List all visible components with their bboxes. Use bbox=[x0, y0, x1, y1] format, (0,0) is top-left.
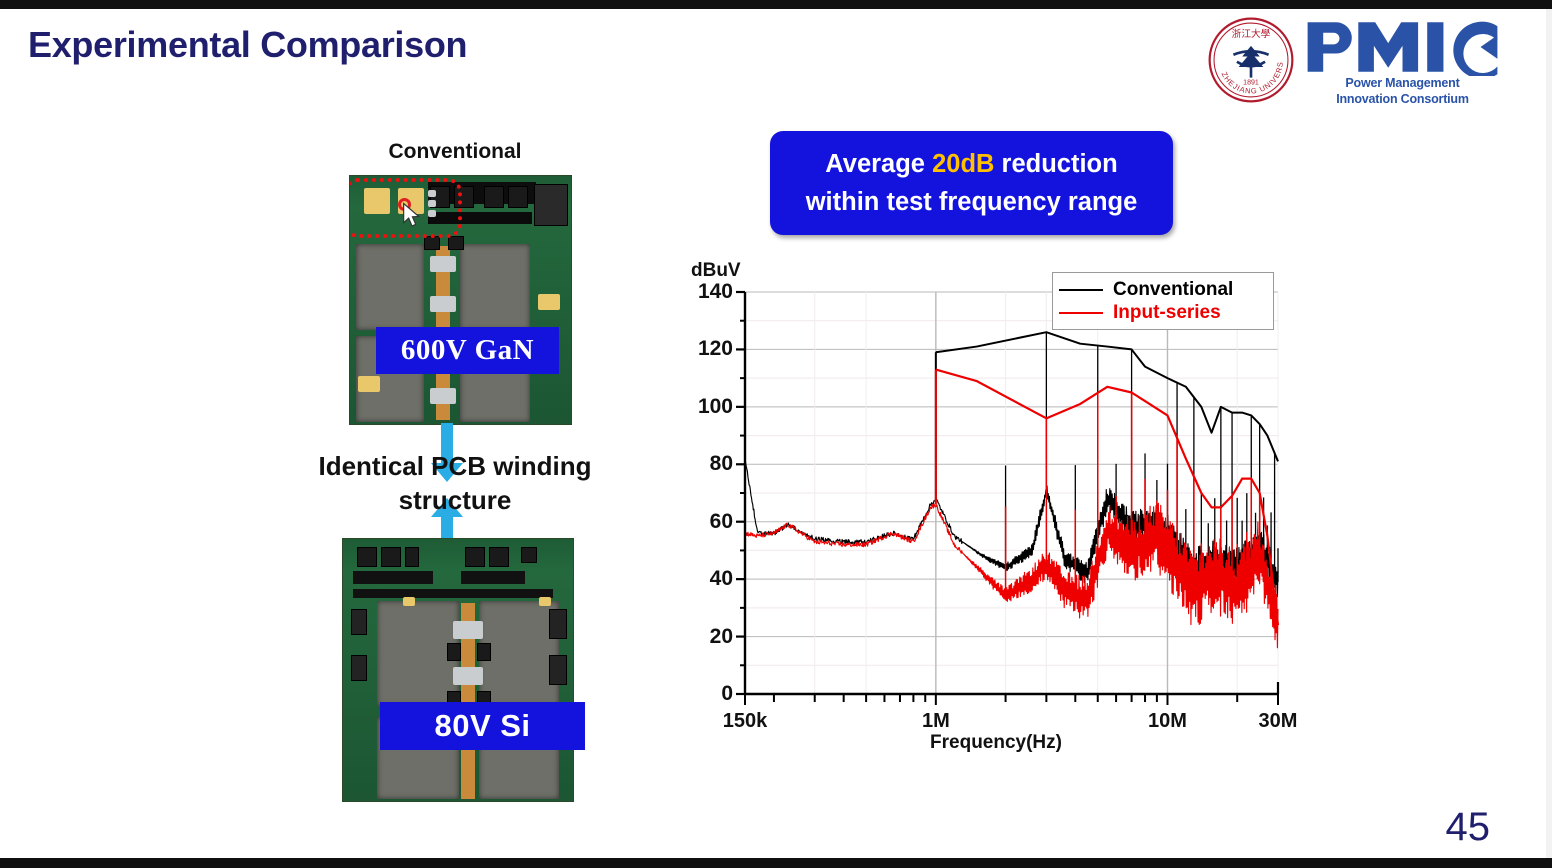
y-tick-20: 20 bbox=[710, 625, 733, 649]
callout-highlight-20db: 20dB bbox=[932, 150, 994, 178]
tag-80v-si: 80V Si bbox=[380, 702, 585, 750]
x-tick-30M: 30M bbox=[1259, 710, 1298, 733]
pmic-logo: Power Management Innovation Consortium bbox=[1305, 16, 1500, 107]
legend-item-conventional: Conventional bbox=[1059, 279, 1267, 301]
x-tick-10M: 10M bbox=[1148, 710, 1187, 733]
svg-text:浙江大學: 浙江大學 bbox=[1232, 27, 1271, 40]
top-black-bar bbox=[0, 0, 1552, 9]
identical-winding-text: Identical PCB winding structure bbox=[275, 450, 635, 518]
x-tick-1M: 1M bbox=[922, 710, 950, 733]
legend-label-conventional: Conventional bbox=[1113, 279, 1233, 301]
y-tick-80: 80 bbox=[710, 452, 733, 476]
logo-group: 浙江大學 1891 ZHEJIANG UNIVERSITY Power bbox=[1207, 16, 1500, 120]
pmic-wordmark-icon bbox=[1305, 18, 1500, 76]
zhejiang-university-seal-icon: 浙江大學 1891 ZHEJIANG UNIVERSITY bbox=[1207, 16, 1295, 104]
mouse-cursor-icon bbox=[402, 202, 422, 230]
chart-legend: Conventional Input-series bbox=[1052, 272, 1274, 330]
svg-text:1891: 1891 bbox=[1243, 80, 1259, 87]
callout-line1-prefix: Average bbox=[825, 150, 932, 178]
left-photo-column: Conventional bbox=[280, 140, 630, 830]
pmic-subtitle-line1: Power Management bbox=[1336, 76, 1469, 92]
legend-label-input-series: Input-series bbox=[1113, 302, 1221, 324]
y-tick-40: 40 bbox=[710, 567, 733, 591]
x-axis-title: Frequency(Hz) bbox=[686, 732, 1306, 754]
legend-swatch-input-series bbox=[1059, 312, 1103, 314]
y-tick-120: 120 bbox=[698, 337, 733, 361]
page-number: 45 bbox=[1446, 805, 1491, 850]
tag-600v-gan: 600V GaN bbox=[376, 327, 559, 374]
legend-swatch-conventional bbox=[1059, 289, 1103, 291]
y-tick-140: 140 bbox=[698, 280, 733, 304]
y-tick-60: 60 bbox=[710, 510, 733, 534]
callout-line1: Average 20dB reduction bbox=[825, 145, 1117, 183]
pcb-photo-bottom-80v-si bbox=[342, 538, 574, 802]
emi-spectrum-chart: dBuV 020406080100120140 150k1M10M30M Fre… bbox=[686, 262, 1306, 762]
callout-line1-suffix: reduction bbox=[994, 150, 1117, 178]
pmic-subtitle: Power Management Innovation Consortium bbox=[1336, 76, 1469, 107]
slide-canvas: Experimental Comparison 浙江大學 1891 ZHEJIA… bbox=[0, 0, 1552, 868]
pcb-photo-top-600v-gan bbox=[349, 175, 572, 425]
chart-plot-area bbox=[686, 262, 1306, 762]
page-title: Experimental Comparison bbox=[28, 24, 467, 66]
bottom-black-bar bbox=[0, 858, 1552, 868]
identical-winding-line1: Identical PCB winding bbox=[275, 450, 635, 484]
y-axis-unit-label: dBuV bbox=[691, 260, 741, 282]
right-edge-strip bbox=[1546, 9, 1552, 858]
identical-winding-line2: structure bbox=[275, 484, 635, 518]
y-tick-100: 100 bbox=[698, 395, 733, 419]
callout-line2: within test frequency range bbox=[806, 183, 1138, 221]
pmic-subtitle-line2: Innovation Consortium bbox=[1336, 92, 1469, 108]
callout-box: Average 20dB reduction within test frequ… bbox=[770, 131, 1173, 235]
legend-item-input-series: Input-series bbox=[1059, 302, 1267, 324]
conventional-caption: Conventional bbox=[280, 140, 630, 164]
x-tick-150k: 150k bbox=[723, 710, 768, 733]
y-tick-0: 0 bbox=[721, 682, 733, 706]
